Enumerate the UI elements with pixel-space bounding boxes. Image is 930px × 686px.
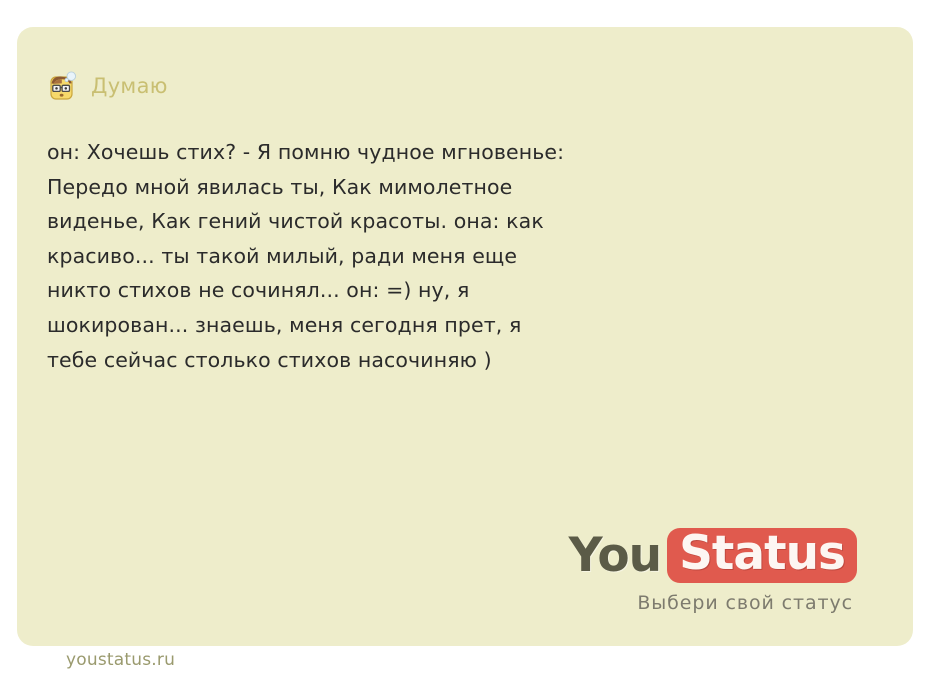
logo-word-status-badge: Status [667,528,857,583]
status-mood-header: Думаю [47,71,168,102]
logo-wordmark: You Status [577,528,857,583]
logo-word-you: You [569,532,661,579]
status-card: Думаю он: Хочешь стих? - Я помню чудное … [17,27,913,646]
site-watermark: youstatus.ru [66,650,175,670]
status-text: он: Хочешь стих? - Я помню чудное мгнове… [47,135,847,377]
youstatus-logo: You Status Выбери свой статус [577,528,857,614]
mood-label: Думаю [91,76,168,97]
page-canvas: Думаю он: Хочешь стих? - Я помню чудное … [0,0,930,686]
logo-tagline: Выбери свой статус [577,592,857,614]
thinking-face-emoticon-icon [47,71,78,102]
